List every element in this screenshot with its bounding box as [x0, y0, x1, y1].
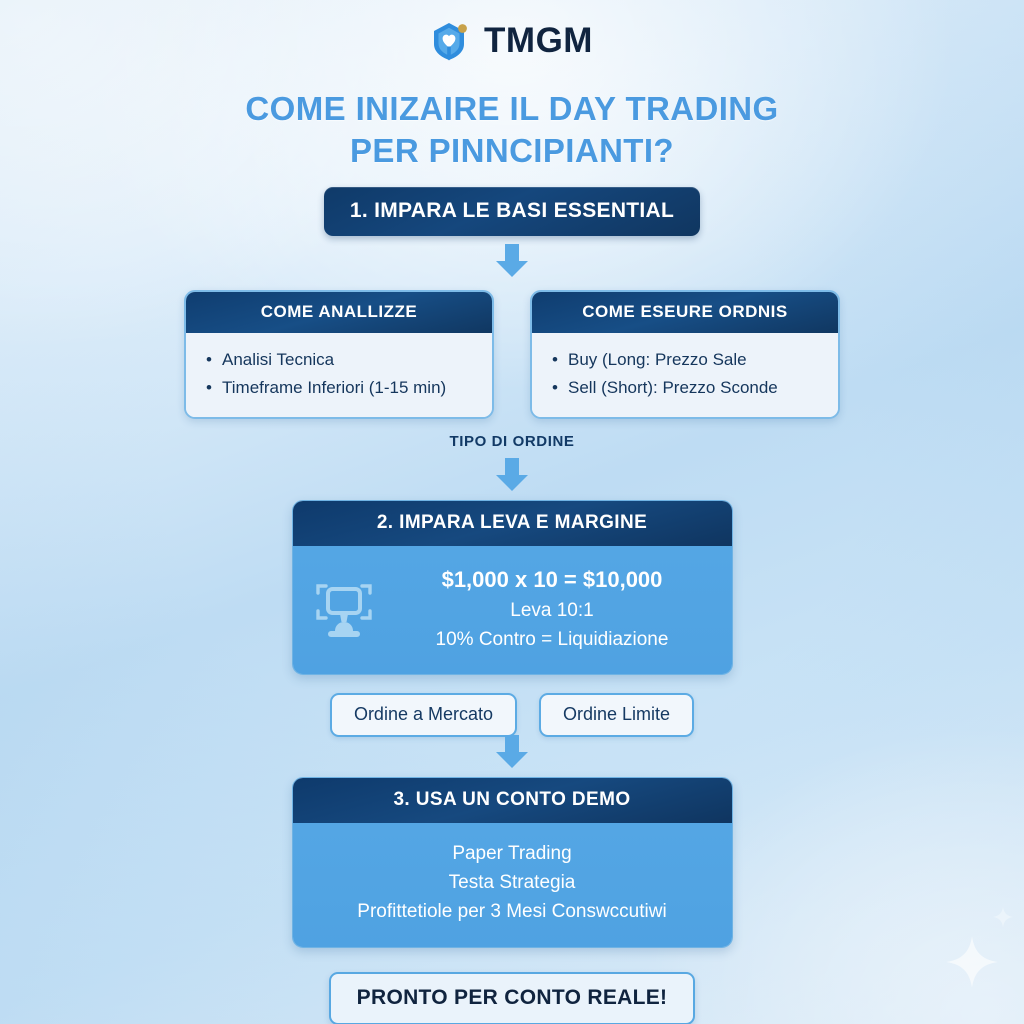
panel-title: 2. IMPARA LEVA E MARGINE: [293, 501, 732, 546]
monitor-screen-icon: [313, 577, 375, 641]
cta-pronto-per-conto-reale[interactable]: PRONTO PER CONTO REALE!: [329, 972, 696, 1024]
leverage-line-1: $1,000 x 10 = $10,000: [393, 563, 712, 596]
page-title-line-2: PER PINNCIPIANTI?: [245, 130, 778, 172]
panel-title: 3. USA UN CONTO DEMO: [293, 778, 732, 823]
chip-ordine-a-mercato[interactable]: Ordine a Mercato: [330, 693, 517, 737]
card-body: Buy (Long: Prezzo Sale Sell (Short): Pre…: [532, 333, 838, 417]
demo-line-3: Profittetiole per 3 Mesi Conswccutiwi: [313, 898, 712, 927]
card-title: COME ESEURE ORDNIS: [532, 292, 838, 333]
infographic-page: TMGM COME INIZAIRE IL DAY TRADING PER PI…: [0, 0, 1024, 1024]
flowchart: 1. IMPARA LE BASI ESSENTIAL COME ANALLIZ…: [0, 187, 1024, 1024]
leverage-line-3: 10% Contro = Liquidiazione: [393, 626, 712, 655]
chip-ordine-limite[interactable]: Ordine Limite: [539, 693, 694, 737]
card-body: Analisi Tecnica Timeframe Inferiori (1-1…: [186, 333, 492, 417]
arrow-down-icon-3: [494, 735, 530, 769]
list-item: Timeframe Inferiori (1-15 min): [206, 374, 476, 402]
page-title: COME INIZAIRE IL DAY TRADING PER PINNCIP…: [245, 88, 778, 171]
panel-step-2-leva-margine: 2. IMPARA LEVA E MARGINE: [292, 500, 733, 675]
connector-label-tipo-di-ordine: TIPO DI ORDINE: [449, 433, 574, 450]
panel-body: Paper Trading Testa Strategia Profitteti…: [293, 823, 732, 947]
order-type-chip-row: Ordine a Mercato Ordine Limite: [330, 693, 694, 737]
brand-name: TMGM: [484, 21, 593, 61]
card-come-analizze: COME ANALLIZZE Analisi Tecnica Timeframe…: [184, 290, 494, 419]
arrow-down-icon-1: [494, 244, 530, 278]
panel-step-3-conto-demo: 3. USA UN CONTO DEMO Paper Trading Testa…: [292, 777, 733, 948]
demo-line-1: Paper Trading: [313, 840, 712, 869]
page-title-line-1: COME INIZAIRE IL DAY TRADING: [245, 88, 778, 130]
brand-header: TMGM: [431, 20, 593, 62]
analysis-orders-row: COME ANALLIZZE Analisi Tecnica Timeframe…: [184, 290, 840, 419]
step-1-header[interactable]: 1. IMPARA LE BASI ESSENTIAL: [324, 187, 700, 236]
leverage-line-2: Leva 10:1: [393, 597, 712, 626]
leverage-lines: $1,000 x 10 = $10,000 Leva 10:1 10% Cont…: [393, 563, 712, 654]
list-item: Sell (Short): Prezzo Sconde: [552, 374, 822, 402]
arrow-down-icon-2: [494, 458, 530, 492]
tmgm-shield-logo-icon: [431, 20, 471, 62]
demo-lines: Paper Trading Testa Strategia Profitteti…: [313, 840, 712, 927]
list-item: Analisi Tecnica: [206, 346, 476, 374]
card-title: COME ANALLIZZE: [186, 292, 492, 333]
panel-body: $1,000 x 10 = $10,000 Leva 10:1 10% Cont…: [293, 546, 732, 674]
card-come-eseure-ordnis: COME ESEURE ORDNIS Buy (Long: Prezzo Sal…: [530, 290, 840, 419]
list-item: Buy (Long: Prezzo Sale: [552, 346, 822, 374]
demo-line-2: Testa Strategia: [313, 869, 712, 898]
